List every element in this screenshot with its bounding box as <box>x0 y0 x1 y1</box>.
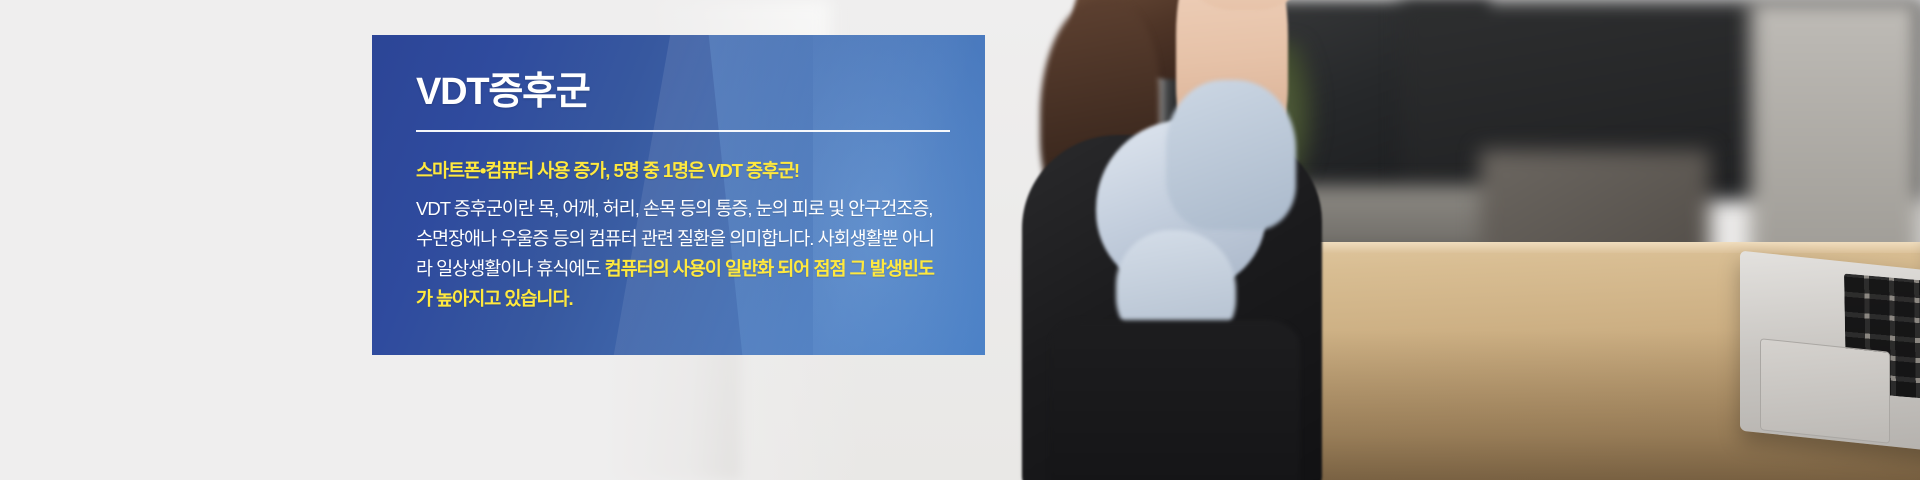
person-sleeve <box>1166 80 1296 230</box>
vdt-syndrome-banner: VDT증후군 스마트폰•컴퓨터 사용 증가, 5명 중 1명은 VDT 증후군!… <box>0 0 1920 480</box>
info-panel: VDT증후군 스마트폰•컴퓨터 사용 증가, 5명 중 1명은 VDT 증후군!… <box>372 35 985 355</box>
panel-content: VDT증후군 스마트폰•컴퓨터 사용 증가, 5명 중 1명은 VDT 증후군!… <box>372 35 985 355</box>
seated-person <box>930 0 1350 480</box>
person-torso-lower <box>1050 320 1300 480</box>
body-paragraph: VDT 증후군이란 목, 어깨, 허리, 손목 등의 통증, 눈의 피로 및 안… <box>416 194 941 314</box>
page-title: VDT증후군 <box>416 73 941 113</box>
title-divider <box>416 130 950 132</box>
lead-headline: 스마트폰•컴퓨터 사용 증가, 5명 중 1명은 VDT 증후군! <box>416 159 941 183</box>
laptop-trackpad <box>1760 338 1890 444</box>
